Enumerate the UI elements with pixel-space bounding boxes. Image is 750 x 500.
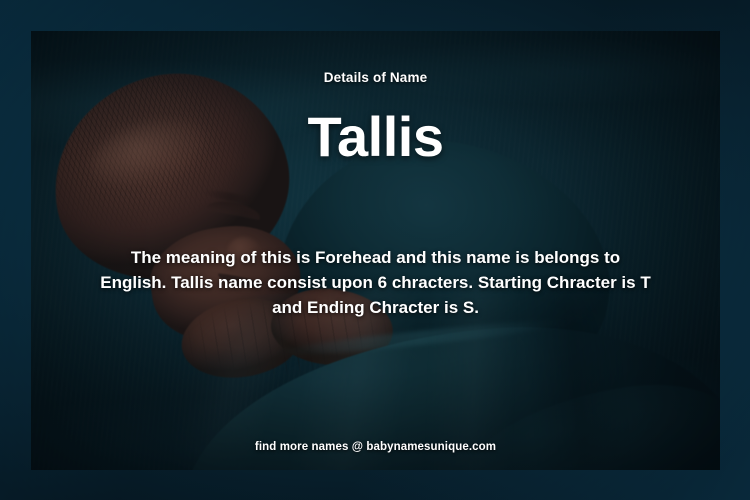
card-content: Details of Name Tallis The meaning of th… xyxy=(31,31,720,470)
card-kicker: Details of Name xyxy=(324,70,428,85)
page-background: Details of Name Tallis The meaning of th… xyxy=(0,0,750,500)
name-title: Tallis xyxy=(307,109,443,165)
name-detail-card: Details of Name Tallis The meaning of th… xyxy=(31,31,720,470)
card-footer: find more names @ babynamesunique.com xyxy=(31,441,720,453)
name-description: The meaning of this is Forehead and this… xyxy=(98,245,654,320)
